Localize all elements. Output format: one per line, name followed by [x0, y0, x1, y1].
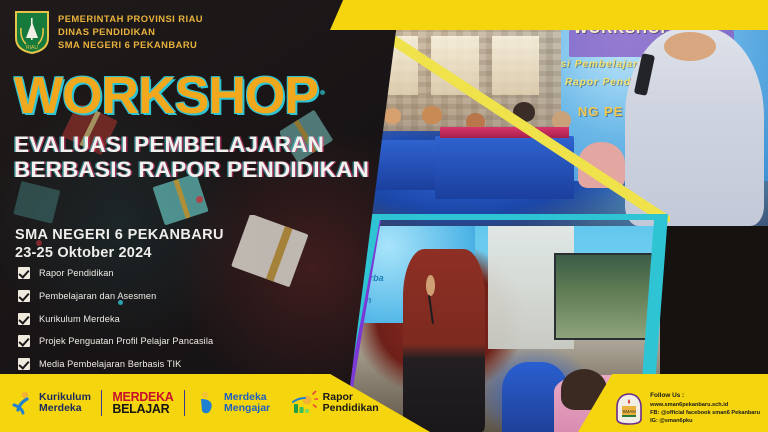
follow-heading: Follow Us :: [650, 392, 760, 401]
checklist-label: Projek Penguatan Profil Pelajar Pancasil…: [39, 336, 213, 346]
merdeka-mengajar-logo: Merdeka Mengajar: [195, 390, 270, 416]
school-logo-icon: SMAN: [615, 393, 643, 425]
follow-us-block: SMAN Follow Us : www.sman6pekanbaru.sch.…: [615, 392, 760, 425]
topic-checklist: Rapor Pendidikan Pembelajaran dan Asesme…: [18, 264, 213, 377]
list-item: Media Pembelajaran Berbasis TIK: [18, 355, 213, 374]
org-line-1: PEMERINTAH PROVINSI RIAU: [58, 12, 203, 25]
checkmark-icon: [18, 267, 30, 279]
riau-province-emblem-icon: RIAU: [14, 10, 50, 54]
checkmark-icon: [18, 313, 30, 325]
page-title: WORKSHOP: [14, 70, 318, 122]
rapor-pendidikan-icon: [292, 390, 318, 416]
org-line-2: DINAS PENDIDIKAN: [58, 25, 203, 38]
logo-spacer: [280, 390, 282, 416]
kurikulum-merdeka-icon: [10, 390, 34, 416]
male-speaker-figure: [403, 249, 486, 432]
page-subtitle: EVALUASI PEMBELAJARAN BERBASIS RAPOR PEN…: [14, 133, 374, 182]
kurikulum-merdeka-logo: Kurikulum Merdeka: [10, 390, 91, 416]
list-item: Kurikulum Merdeka: [18, 309, 213, 328]
merdeka-belajar-logo: MERDEKA BELAJAR: [112, 391, 173, 415]
organization-header: RIAU PEMERINTAH PROVINSI RIAU DINAS PEND…: [14, 10, 203, 54]
list-item: Rapor Pendidikan: [18, 264, 213, 283]
audience-table-skirt: [440, 127, 570, 138]
rapor-pendidikan-text: Rapor Pendidikan: [323, 392, 379, 415]
cyan-top-border: [360, 214, 660, 220]
svg-text:SMAN: SMAN: [622, 409, 635, 414]
checklist-label: Pembelajaran dan Asesmen: [39, 291, 156, 301]
merdeka-mengajar-text: Merdeka Mengajar: [224, 392, 270, 415]
venue-place: SMA NEGERI 6 PEKANBARU: [15, 226, 224, 244]
workshop-audience-photo: WORKSHOP si Pembelajaran Ber Rapor Pendi…: [336, 0, 768, 226]
follow-website[interactable]: www.sman6pekanbaru.sch.id: [650, 401, 760, 409]
audience-banner-line4: NG PE: [578, 104, 623, 119]
workshop-poster: SHOP aran Berba didikan KA WORKSHOP si P…: [0, 0, 768, 432]
org-line-3: SMA NEGERI 6 PEKANBARU: [58, 38, 203, 51]
follow-us-text: Follow Us : www.sman6pekanbaru.sch.id FB…: [650, 392, 760, 425]
logo-divider: [184, 390, 186, 416]
list-item: Projek Penguatan Profil Pelajar Pancasil…: [18, 332, 213, 351]
attendee-head: [422, 106, 441, 124]
venue-block: SMA NEGERI 6 PEKANBARU 23-25 Oktober 202…: [15, 226, 224, 263]
kurikulum-merdeka-text: Kurikulum Merdeka: [39, 392, 91, 415]
checklist-label: Kurikulum Merdeka: [39, 314, 120, 324]
handheld-microphone-icon: [428, 295, 435, 324]
list-item: Pembelajaran dan Asesmen: [18, 287, 213, 306]
female-speaker-face: [664, 32, 716, 61]
rapor-pendidikan-logo: Rapor Pendidikan: [292, 390, 379, 416]
organization-names: PEMERINTAH PROVINSI RIAU DINAS PENDIDIKA…: [58, 10, 203, 52]
svg-text:RIAU: RIAU: [26, 45, 38, 51]
checklist-label: Rapor Pendidikan: [39, 268, 114, 278]
tv-monitor: [554, 253, 653, 340]
follow-facebook[interactable]: FB: @official facebook sman6 Pekanbaru: [650, 409, 760, 417]
logo-line-2: Pendidikan: [323, 403, 379, 415]
logo-line-2: BELAJAR: [112, 403, 173, 415]
room-window: [492, 36, 540, 95]
male-speaker-face: [426, 275, 435, 297]
logo-line-2: Mengajar: [224, 403, 270, 415]
checkmark-icon: [18, 358, 30, 370]
venue-dates: 23-25 Oktober 2024: [15, 244, 224, 263]
checkmark-icon: [18, 335, 30, 347]
merdeka-belajar-text: MERDEKA BELAJAR: [112, 391, 173, 415]
checkmark-icon: [18, 290, 30, 302]
logo-line-2: Merdeka: [39, 403, 91, 415]
merdeka-mengajar-icon: [195, 390, 219, 416]
logo-divider: [101, 390, 103, 416]
checklist-label: Media Pembelajaran Berbasis TIK: [39, 359, 181, 369]
partner-logo-strip: Kurikulum Merdeka MERDEKA BELAJAR Merdek…: [10, 374, 379, 432]
poster-content: RIAU PEMERINTAH PROVINSI RIAU DINAS PEND…: [0, 0, 400, 432]
follow-instagram[interactable]: IG: @sman6pku: [650, 417, 760, 425]
